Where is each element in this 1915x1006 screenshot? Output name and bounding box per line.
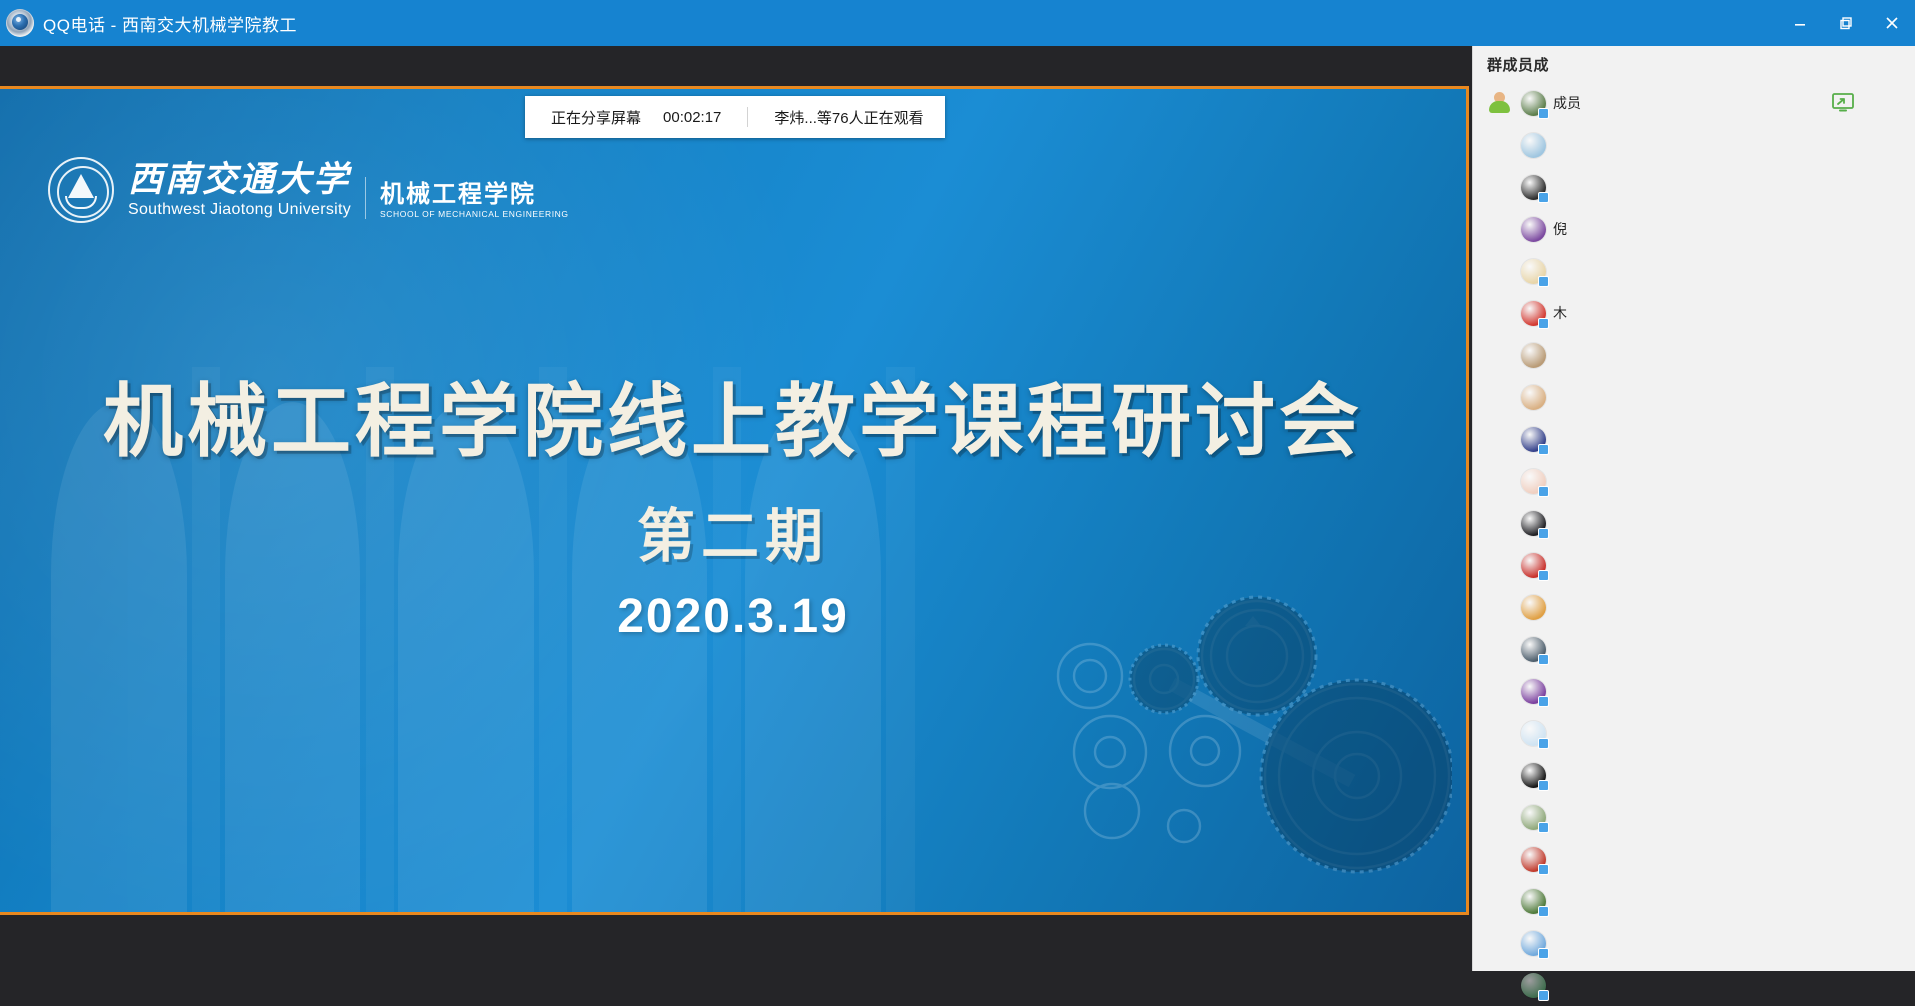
slide-subtitle: 第二期 [0, 489, 1466, 573]
minimize-icon [1792, 15, 1808, 31]
member-row[interactable] [1473, 880, 1915, 922]
share-watchers-label: 李炜...等76人正在观看 [774, 107, 923, 128]
self-member-icon [1487, 91, 1511, 115]
slide-date: 2020.3.19 [0, 589, 1466, 644]
avatar[interactable] [1521, 805, 1546, 830]
slide-title: 机械工程学院线上教学课程研讨会 [0, 357, 1466, 473]
members-list[interactable]: 成员倪木 [1473, 82, 1915, 1006]
share-status-label: 正在分享屏幕 [551, 107, 641, 128]
member-row[interactable] [1473, 124, 1915, 166]
department-name-cn: 机械工程学院 [380, 182, 569, 208]
avatar[interactable] [1521, 763, 1546, 788]
member-row[interactable] [1473, 670, 1915, 712]
avatar[interactable] [1521, 175, 1546, 200]
title-bar[interactable]: QQ电话 - 西南交大机械学院教工 [0, 0, 1915, 46]
member-row[interactable] [1473, 628, 1915, 670]
qq-status-flag-icon [1538, 318, 1549, 329]
qq-status-flag-icon [1538, 528, 1549, 539]
avatar[interactable] [1521, 679, 1546, 704]
qq-status-flag-icon [1538, 696, 1549, 707]
members-panel-title: 群成员成 [1473, 46, 1915, 82]
department-name-en: SCHOOL OF MECHANICAL ENGINEERING [380, 209, 569, 219]
qq-status-flag-icon [1538, 192, 1549, 203]
member-row[interactable] [1473, 922, 1915, 964]
member-row[interactable]: 木 [1473, 292, 1915, 334]
avatar[interactable] [1521, 217, 1546, 242]
qq-status-flag-icon [1538, 738, 1549, 749]
restore-button[interactable] [1823, 0, 1869, 46]
close-button[interactable] [1869, 0, 1915, 46]
member-row[interactable] [1473, 712, 1915, 754]
qq-status-flag-icon [1538, 990, 1549, 1001]
member-row[interactable] [1473, 250, 1915, 292]
qq-status-flag-icon [1538, 108, 1549, 119]
qq-status-flag-icon [1538, 864, 1549, 875]
qq-status-flag-icon [1538, 822, 1549, 833]
avatar[interactable] [1521, 427, 1546, 452]
member-row[interactable] [1473, 418, 1915, 460]
logo-divider [365, 177, 366, 219]
minimize-button[interactable] [1777, 0, 1823, 46]
member-name: 木 [1553, 303, 1567, 323]
qq-status-flag-icon [1538, 444, 1549, 455]
member-row[interactable] [1473, 544, 1915, 586]
member-row[interactable] [1473, 460, 1915, 502]
member-row[interactable] [1473, 964, 1915, 1006]
member-row[interactable]: 成员 [1473, 82, 1915, 124]
avatar[interactable] [1521, 259, 1546, 284]
member-row[interactable]: 倪 [1473, 208, 1915, 250]
member-row[interactable] [1473, 796, 1915, 838]
member-row[interactable] [1473, 334, 1915, 376]
university-name-cn: 西南交通大学 [128, 162, 351, 197]
avatar[interactable] [1521, 973, 1546, 998]
qq-status-flag-icon [1538, 654, 1549, 665]
group-members-panel[interactable]: 群成员成 成员倪木 [1472, 46, 1915, 971]
avatar[interactable] [1521, 511, 1546, 536]
restore-icon [1838, 15, 1854, 31]
university-name-en: Southwest Jiaotong University [128, 201, 351, 219]
qq-call-icon [6, 9, 34, 37]
avatar[interactable] [1521, 469, 1546, 494]
member-name: 倪 [1553, 219, 1567, 239]
avatar[interactable] [1521, 385, 1546, 410]
avatar[interactable] [1521, 847, 1546, 872]
university-seal-icon [48, 157, 114, 223]
avatar[interactable] [1521, 91, 1546, 116]
member-row[interactable] [1473, 502, 1915, 544]
member-row[interactable] [1473, 586, 1915, 628]
share-status-bar[interactable]: 正在分享屏幕 00:02:17 李炜...等76人正在观看 [525, 96, 945, 138]
avatar[interactable] [1521, 301, 1546, 326]
avatar[interactable] [1521, 721, 1546, 746]
shared-screen-region[interactable]: 西南交通大学 Southwest Jiaotong University 机械工… [0, 86, 1469, 915]
member-row[interactable] [1473, 838, 1915, 880]
avatar[interactable] [1521, 553, 1546, 578]
avatar[interactable] [1521, 637, 1546, 662]
avatar[interactable] [1521, 595, 1546, 620]
qq-status-flag-icon [1538, 906, 1549, 917]
qq-status-flag-icon [1538, 780, 1549, 791]
presentation-slide: 西南交通大学 Southwest Jiaotong University 机械工… [0, 89, 1466, 912]
avatar[interactable] [1521, 931, 1546, 956]
status-divider [747, 107, 748, 127]
qq-status-flag-icon [1538, 486, 1549, 497]
member-name: 成员 [1553, 93, 1581, 113]
close-icon [1884, 15, 1900, 31]
screen-share-icon[interactable] [1831, 92, 1855, 114]
avatar[interactable] [1521, 133, 1546, 158]
qq-status-flag-icon [1538, 570, 1549, 581]
member-row[interactable] [1473, 754, 1915, 796]
share-timer: 00:02:17 [663, 109, 721, 126]
university-logo: 西南交通大学 Southwest Jiaotong University 机械工… [48, 157, 569, 223]
qq-status-flag-icon [1538, 276, 1549, 287]
avatar[interactable] [1521, 343, 1546, 368]
avatar[interactable] [1521, 889, 1546, 914]
qq-status-flag-icon [1538, 948, 1549, 959]
member-row[interactable] [1473, 376, 1915, 418]
member-row[interactable] [1473, 166, 1915, 208]
window-title: QQ电话 - 西南交大机械学院教工 [43, 11, 297, 36]
